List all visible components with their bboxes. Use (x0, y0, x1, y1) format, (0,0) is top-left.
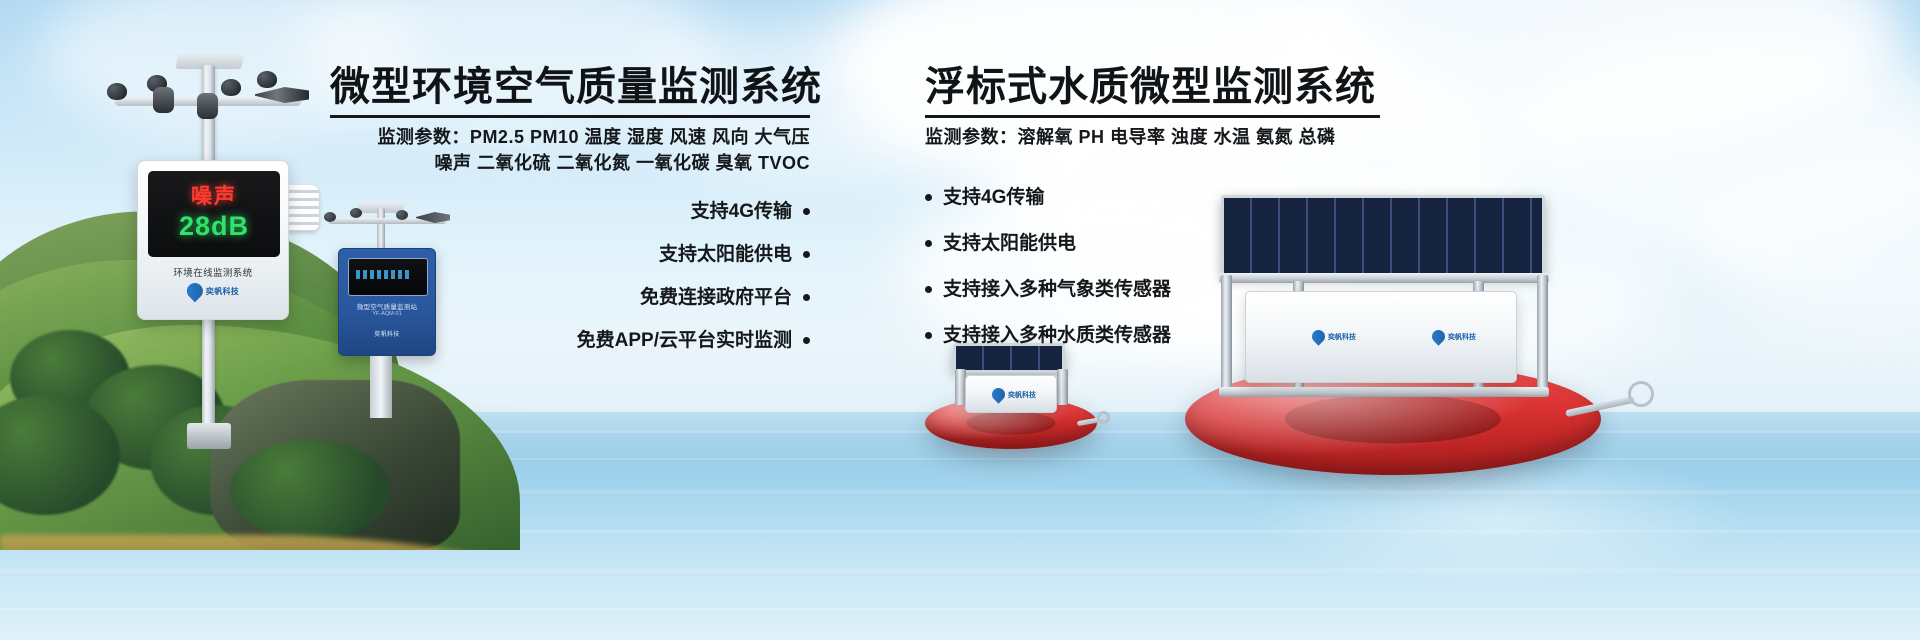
buoy-brand-logo-secondary: 奕帆科技 (1432, 330, 1476, 343)
left-product-panel: 微型环境空气质量监测系统 监测参数：PM2.5 PM10 温度 湿度 风速 风向… (330, 66, 810, 374)
right-bullet-label-4: 支持接入多种水质类传感器 (943, 326, 1171, 345)
left-panel-title: 微型环境空气质量监测系统 (330, 66, 810, 108)
list-item: 支持4G传输 (330, 202, 810, 221)
air-quality-station: 噪声 28dB 环境在线监测系统 奕帆科技 (95, 35, 345, 455)
right-panel-divider (925, 115, 1380, 118)
station-pole-base (187, 423, 231, 449)
bullet-dot-icon (925, 286, 932, 293)
station-caption: 环境在线监测系统 (138, 265, 288, 279)
station-display: 噪声 28dB (148, 171, 280, 257)
bullet-dot-icon (925, 240, 932, 247)
station-brand-logo: 奕帆科技 (187, 283, 239, 299)
right-bullet-label-3: 支持接入多种气象类传感器 (943, 280, 1171, 299)
bullet-dot-icon (803, 294, 810, 301)
anemometer-cup-icon (221, 79, 241, 96)
right-product-panel: 浮标式水质微型监测系统 监测参数：溶解氧 PH 电导率 浊度 水温 氨氮 总磷 … (925, 66, 1380, 372)
anemometer-cup-icon (107, 83, 127, 100)
bullet-dot-icon (925, 332, 932, 339)
buoy-brand-logo: 奕帆科技 (992, 388, 1036, 401)
instrument-cabinet: 奕帆科技 (965, 375, 1057, 413)
bullet-dot-icon (803, 337, 810, 344)
sensor-probe (153, 87, 174, 113)
display-value: 28dB (179, 210, 249, 242)
sensor-probe (197, 93, 218, 119)
banner-root: 噪声 28dB 环境在线监测系统 奕帆科技 微型空气质量监测站 Y (0, 0, 1920, 640)
list-item: 支持接入多种气象类传感器 (925, 280, 1380, 299)
left-params-line-1: 监测参数：PM2.5 PM10 温度 湿度 风速 风向 大气压 (330, 124, 810, 150)
left-panel-params: 监测参数：PM2.5 PM10 温度 湿度 风速 风向 大气压 噪声 二氧化硫 … (330, 124, 810, 176)
tree-cluster (230, 440, 390, 540)
left-bullet-label-4: 免费APP/云平台实时监测 (577, 331, 792, 350)
right-panel-title: 浮标式水质微型监测系统 (925, 66, 1380, 108)
bullet-dot-icon (803, 208, 810, 215)
right-params-line-1: 监测参数：溶解氧 PH 电导率 浊度 水温 氨氮 总磷 (925, 124, 1380, 150)
list-item: 支持4G传输 (925, 188, 1380, 207)
list-item: 免费APP/云平台实时监测 (330, 331, 810, 350)
right-bullet-label-2: 支持太阳能供电 (943, 234, 1076, 253)
brand-mark-icon (989, 385, 1007, 403)
display-label: 噪声 (191, 185, 237, 208)
bullet-dot-icon (925, 194, 932, 201)
list-item: 支持接入多种水质类传感器 (925, 326, 1380, 345)
list-item: 支持太阳能供电 (925, 234, 1380, 253)
left-bullet-label-1: 支持4G传输 (691, 202, 792, 221)
left-panel-feature-list: 支持4G传输 支持太阳能供电 免费连接政府平台 免费APP/云平台实时监测 (330, 202, 810, 350)
frame-post (1537, 275, 1548, 397)
list-item: 免费连接政府平台 (330, 288, 810, 307)
brand-name: 奕帆科技 (1448, 332, 1476, 342)
left-panel-divider (330, 115, 810, 118)
right-panel-feature-list: 支持4G传输 支持太阳能供电 支持接入多种气象类传感器 支持接入多种水质类传感器 (925, 188, 1380, 345)
brand-name: 奕帆科技 (206, 286, 239, 297)
right-bullet-label-1: 支持4G传输 (943, 188, 1044, 207)
left-bullet-label-3: 免费连接政府平台 (640, 288, 792, 307)
sensor-ring-icon (1097, 411, 1110, 424)
frame-rail-bottom (1219, 387, 1549, 397)
brand-mark-icon (1429, 327, 1447, 345)
list-item: 支持太阳能供电 (330, 245, 810, 264)
brand-mark-icon (184, 280, 207, 303)
frame-post (1057, 369, 1068, 405)
left-params-line-2: 噪声 二氧化硫 二氧化氮 一氧化碳 臭氧 TVOC (330, 150, 810, 176)
bullet-dot-icon (803, 251, 810, 258)
sensor-ring-icon (1628, 381, 1654, 407)
right-panel-params: 监测参数：溶解氧 PH 电导率 浊度 水温 氨氮 总磷 (925, 124, 1380, 150)
left-bullet-label-2: 支持太阳能供电 (659, 245, 792, 264)
brand-name: 奕帆科技 (1008, 390, 1036, 400)
station-enclosure: 噪声 28dB 环境在线监测系统 奕帆科技 (137, 160, 289, 320)
anemometer-cup-icon (257, 71, 277, 88)
